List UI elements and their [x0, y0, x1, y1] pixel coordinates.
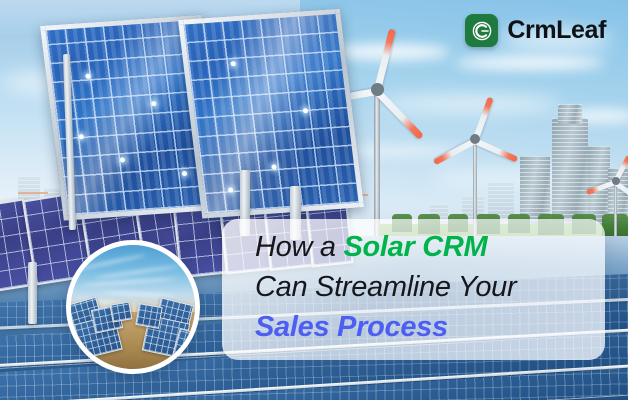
headline-line-1: How a Solar CRM	[255, 227, 605, 267]
panel-glare	[184, 14, 359, 213]
brand-name: CrmLeaf	[507, 16, 606, 45]
crmleaf-c-logo-icon	[465, 14, 498, 47]
circular-photo-inset	[66, 240, 200, 374]
panel-support-post	[28, 262, 37, 324]
turbine-hub	[612, 177, 620, 185]
headline-line1-plain: How a	[255, 231, 343, 263]
headline-accent-solar-crm: Solar CRM	[343, 231, 487, 263]
brand-logo[interactable]: CrmLeaf	[465, 14, 606, 47]
large-panel-group	[178, 0, 502, 219]
banner-canvas: How a Solar CRM Can Streamline Your Sale…	[0, 0, 628, 400]
headline-line-2: Can Streamline Your	[255, 267, 605, 307]
inset-solar-panel	[135, 303, 162, 329]
inset-solar-panel	[110, 301, 133, 322]
construction-crane	[18, 192, 48, 194]
skyscraper-crown	[558, 104, 582, 124]
large-solar-panel-right	[178, 9, 364, 219]
page-title: How a Solar CRM Can Streamline Your Sale…	[255, 227, 605, 347]
headline-line-3-sales-process: Sales Process	[255, 307, 605, 347]
